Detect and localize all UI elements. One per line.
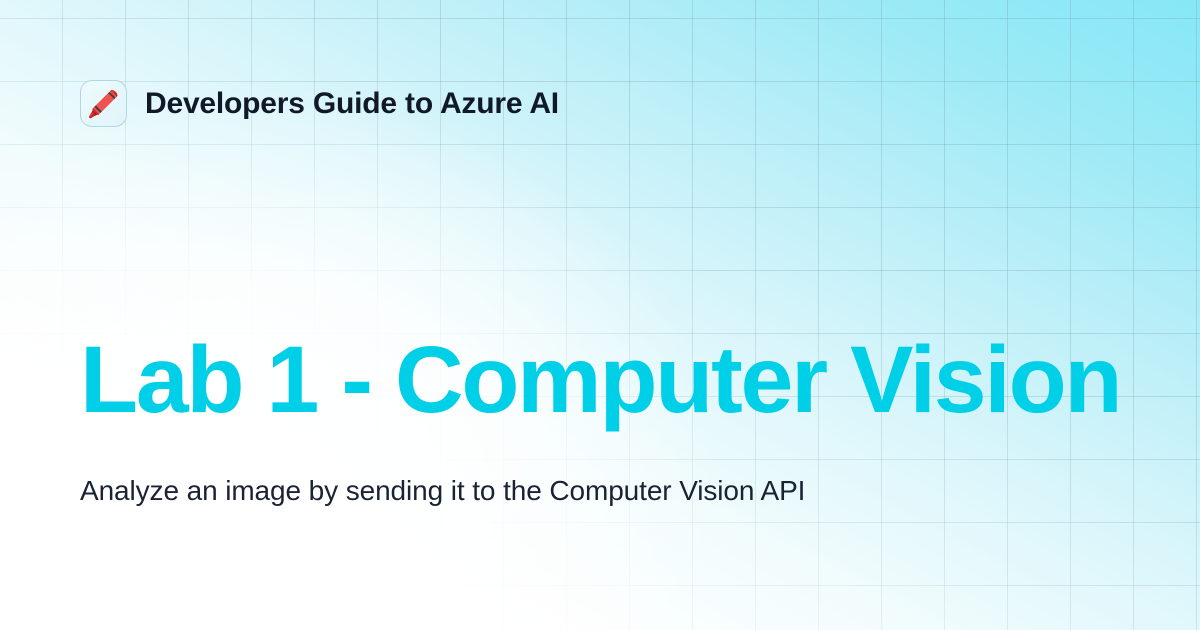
brand-title: Developers Guide to Azure AI: [145, 87, 559, 121]
page-title: Lab 1 - Computer Vision: [80, 333, 1120, 428]
brand-header: 🖍️ Developers Guide to Azure AI: [80, 80, 559, 127]
card-content: 🖍️ Developers Guide to Azure AI Lab 1 - …: [0, 0, 1200, 630]
crayon-icon: 🖍️: [80, 80, 127, 127]
page-subtitle: Analyze an image by sending it to the Co…: [80, 470, 880, 512]
og-banner-card: 🖍️ Developers Guide to Azure AI Lab 1 - …: [0, 0, 1200, 630]
crayon-icon-glyph: 🖍️: [87, 91, 119, 117]
